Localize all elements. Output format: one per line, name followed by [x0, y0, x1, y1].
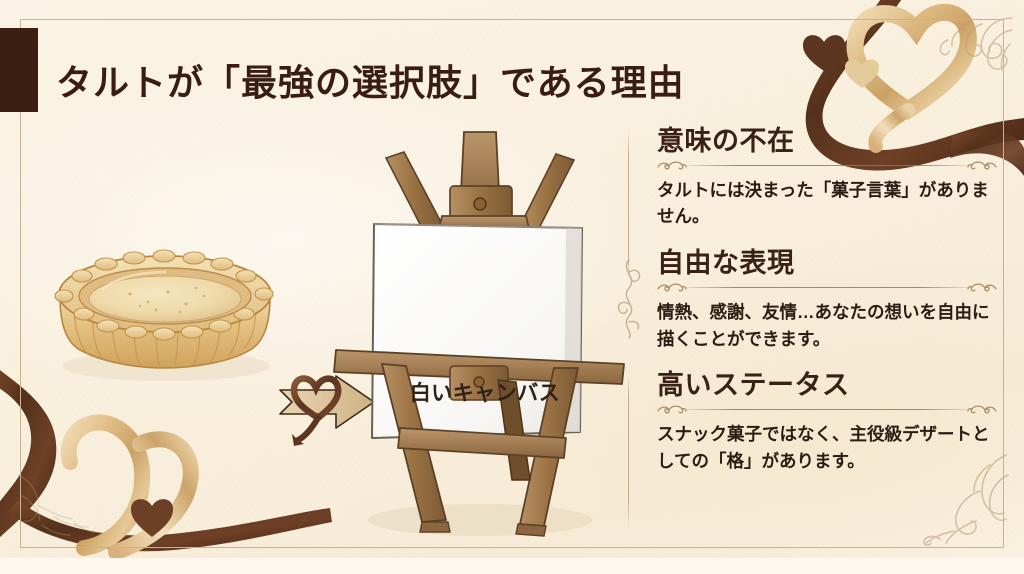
point-body: 情熱、感謝、友情…あなたの想いを自由に描くことができます。	[657, 299, 997, 352]
point-heading: 意味の不在	[657, 126, 997, 158]
page-title: タルトが「最強の選択肢」である理由	[56, 54, 685, 106]
rule-line	[683, 165, 971, 166]
rule-line	[683, 409, 971, 410]
swirl-ornament-right	[967, 160, 997, 171]
swirl-ornament-right	[967, 404, 997, 415]
slide-root: タルトが「最強の選択肢」である理由	[0, 0, 1024, 574]
point-divider	[657, 282, 997, 293]
canvas-caption: 白いキャンバス	[400, 377, 570, 407]
point-item: 意味の不在 タルトには決ま	[657, 126, 997, 230]
title-accent-bar	[0, 28, 38, 112]
point-item: 高いステータス スナック菓	[657, 370, 997, 474]
point-divider	[657, 404, 997, 415]
point-heading: 自由な表現	[657, 248, 997, 280]
tart-shell-illustration	[44, 234, 284, 384]
point-body: タルトには決まった「菓子言葉」がありません。	[657, 177, 997, 230]
illustration-area: 白いキャンバス	[0, 110, 628, 570]
point-body: スナック菓子ではなく、主役級デザートとしての「格」があります。	[657, 421, 997, 474]
wooden-easel-illustration	[330, 128, 630, 548]
point-heading: 高いステータス	[657, 370, 997, 402]
corner-flourish-top-right	[934, 14, 1014, 93]
swirl-ornament-right	[967, 282, 997, 293]
rule-line	[683, 287, 971, 288]
divider-ornament	[612, 258, 646, 340]
points-list: 意味の不在 タルトには決ま	[657, 126, 997, 474]
point-divider	[657, 160, 997, 171]
point-item: 自由な表現 情熱、感謝、友	[657, 248, 997, 352]
